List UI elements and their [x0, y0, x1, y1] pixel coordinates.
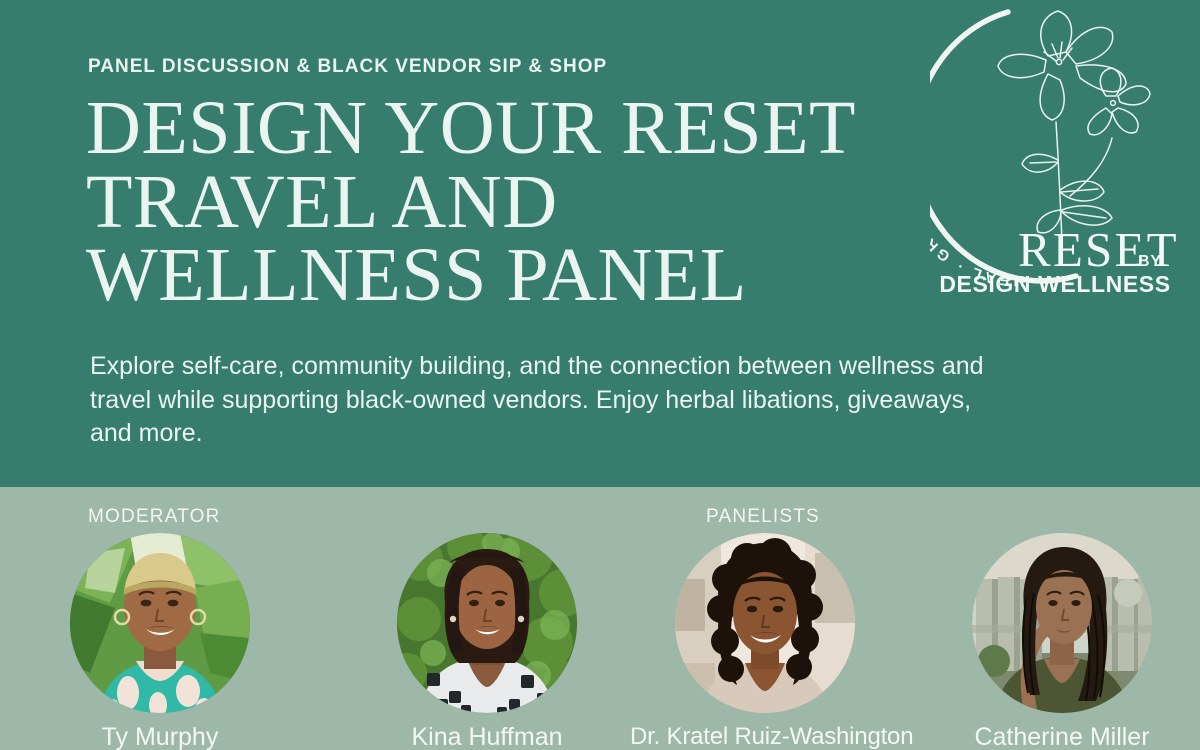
label-panelists: PANELISTS	[706, 506, 820, 528]
avatar	[397, 533, 577, 713]
avatar	[70, 533, 250, 713]
person-name: Dr. Kratel Ruiz-Washington	[630, 724, 900, 749]
headline-line-2: TRAVEL AND	[86, 166, 866, 240]
eyebrow-text: PANEL DISCUSSION & BLACK VENDOR SIP & SH…	[88, 56, 607, 78]
person-name: Kina Huffman	[387, 724, 587, 750]
flower-icon	[998, 11, 1150, 242]
person-card: Dr. Kratel Ruiz-Washington	[665, 533, 865, 749]
headline-line-3: WELLNESS PANEL	[86, 239, 866, 313]
logo-wordmark-by: BY	[1138, 253, 1162, 270]
person-card: Ty Murphy	[60, 533, 260, 750]
label-moderator: MODERATOR	[88, 506, 221, 528]
person-card: Catherine Miller	[962, 533, 1162, 750]
headline-line-1: DESIGN YOUR RESET	[86, 92, 866, 166]
logo-wordmark-sub: DESIGN WELLNESS	[939, 271, 1170, 297]
avatar	[972, 533, 1152, 713]
page-title: DESIGN YOUR RESET TRAVEL AND WELLNESS PA…	[86, 92, 866, 313]
person-card: Kina Huffman	[387, 533, 587, 750]
brand-logo: HEAL · GROW · RESET	[930, 4, 1180, 304]
person-name: Ty Murphy	[60, 724, 260, 750]
avatar	[675, 533, 855, 713]
person-name: Catherine Miller	[962, 724, 1162, 750]
description-text: Explore self-care, community building, a…	[90, 350, 1000, 451]
event-flyer: PANEL DISCUSSION & BLACK VENDOR SIP & SH…	[0, 0, 1200, 750]
